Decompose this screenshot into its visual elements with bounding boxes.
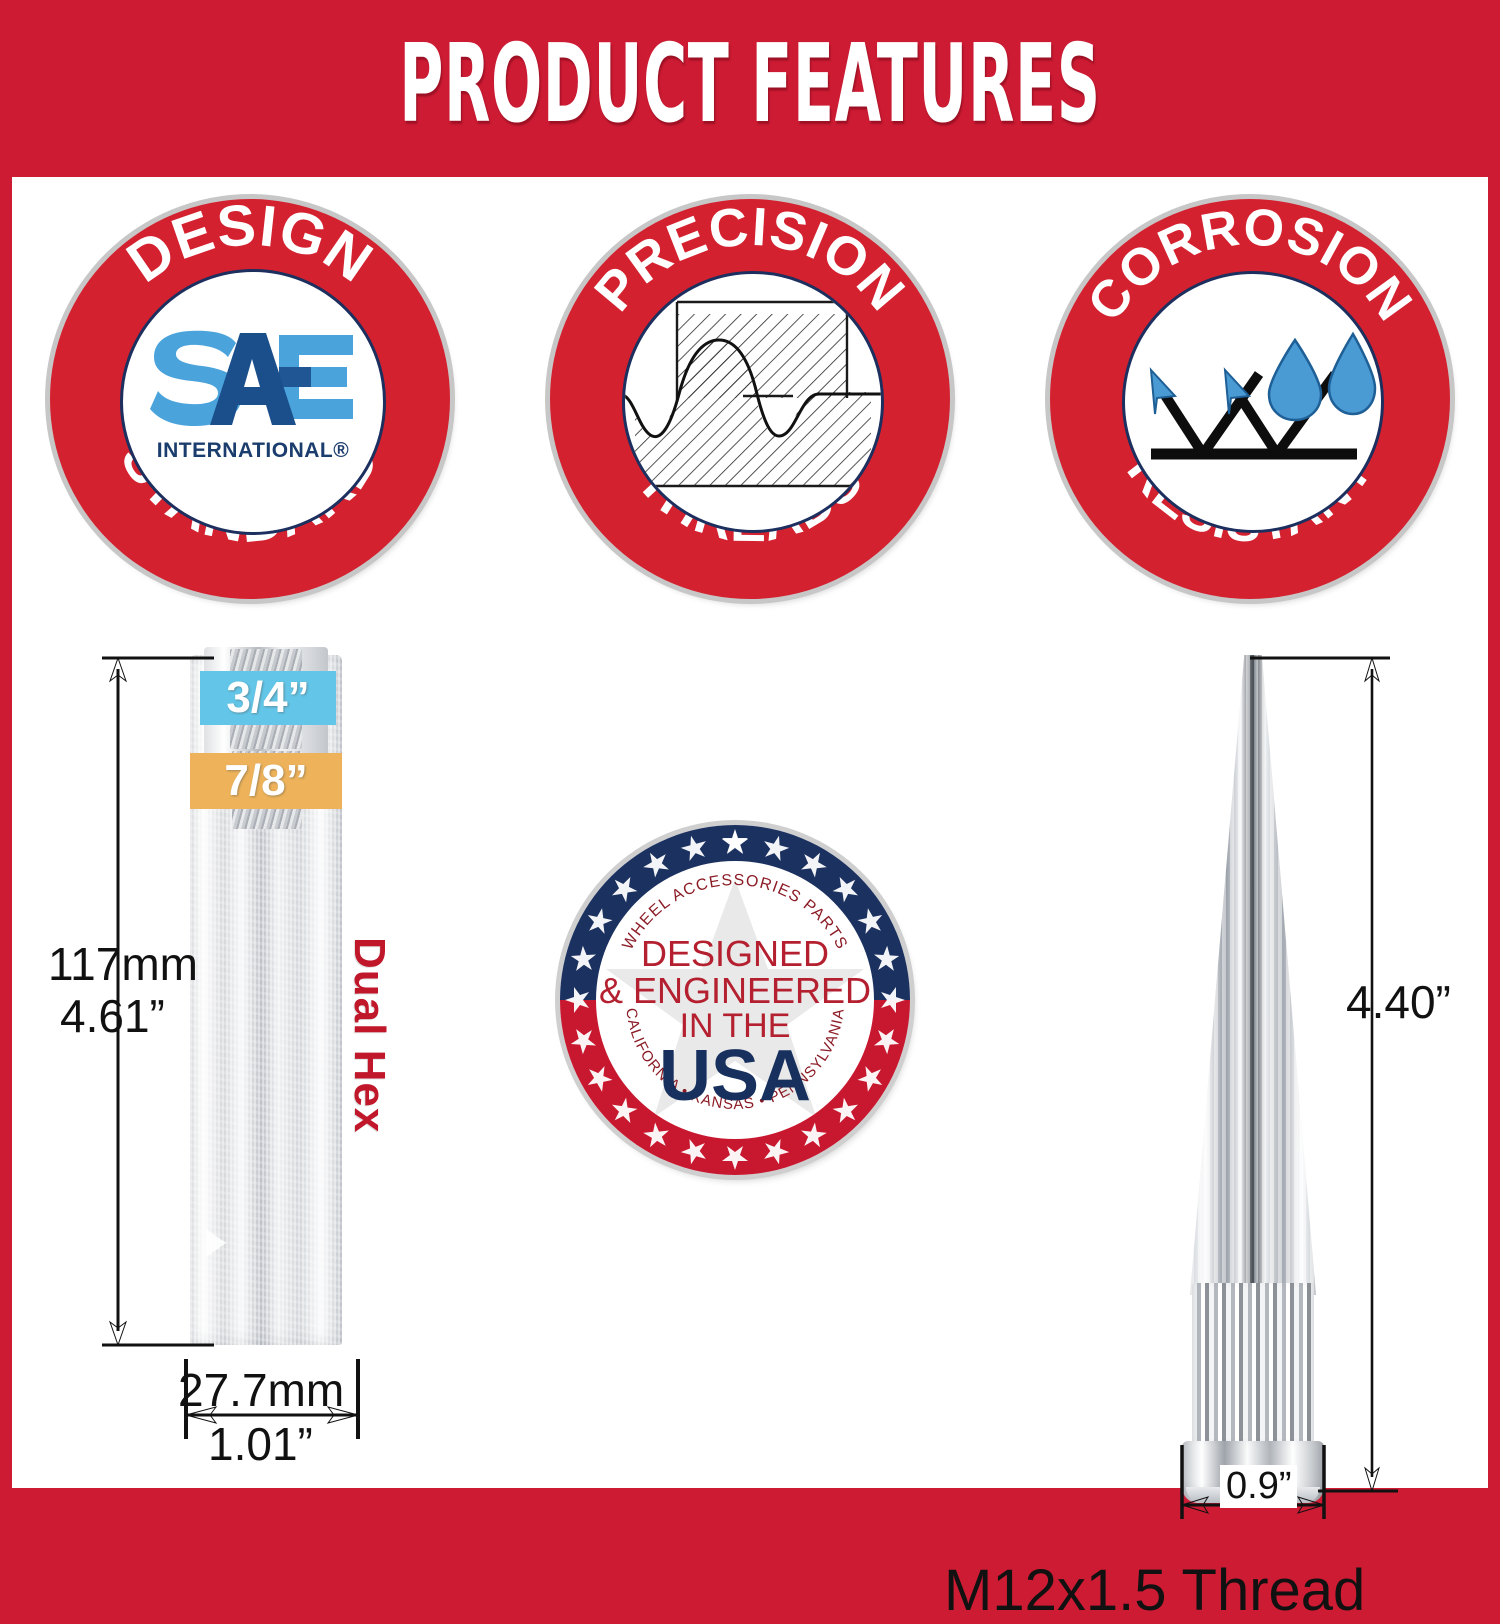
dual-hex-side-label: Dual Hex: [344, 937, 394, 1187]
left-height-in-label: 4.61”: [60, 989, 165, 1043]
thread-spec-label: M12x1.5 Thread: [944, 1557, 1365, 1624]
sae-international-label: INTERNATIONAL®: [123, 439, 383, 463]
usa-badge-text-block: DESIGNED & ENGINEERED IN THE USA: [596, 936, 874, 1114]
sae-logo-group: INTERNATIONAL®: [123, 329, 383, 463]
right-width-label: 0.9”: [1220, 1465, 1297, 1508]
right-height-label: 4.40”: [1346, 975, 1451, 1029]
sae-logo-icon: [148, 329, 358, 435]
usa-line-engineered: & ENGINEERED: [596, 973, 874, 1010]
right-height-dimension-line: [1230, 655, 1430, 1515]
header-banner: PRODUCT FEATURES: [0, 0, 1500, 177]
page-title: PRODUCT FEATURES: [285, 22, 1215, 147]
thread-cross-section-icon: [625, 274, 881, 530]
usa-line-designed: DESIGNED: [596, 936, 874, 973]
badge-precision-threads: PRECISION THREADS: [550, 199, 950, 599]
badge-inner-circle: INTERNATIONAL®: [120, 269, 386, 535]
left-width-mm-label: 27.7mm: [178, 1363, 344, 1417]
badge-corrosion-resistant: CORROSION RESISTANT: [1050, 199, 1450, 599]
usa-line-usa: USA: [596, 1040, 874, 1113]
content-canvas: DESIGN STANDARD: [12, 177, 1488, 1488]
badge-design-standard: DESIGN STANDARD: [50, 199, 450, 599]
product-features-infographic: PRODUCT FEATURES DESIGN STANDARD: [0, 0, 1500, 1500]
usa-badge-inner: WHEEL ACCESSORIES PARTS CALIFORNIA • KAN…: [596, 861, 874, 1139]
water-droplet-repel-icon: [1125, 274, 1381, 530]
badge-inner-circle: [1122, 271, 1384, 533]
left-width-in-label: 1.01”: [208, 1417, 313, 1471]
badge-designed-in-usa: WHEEL ACCESSORIES PARTS CALIFORNIA • KAN…: [560, 825, 910, 1175]
badge-inner-circle: [622, 271, 884, 533]
left-height-mm-label: 117mm: [48, 937, 198, 991]
